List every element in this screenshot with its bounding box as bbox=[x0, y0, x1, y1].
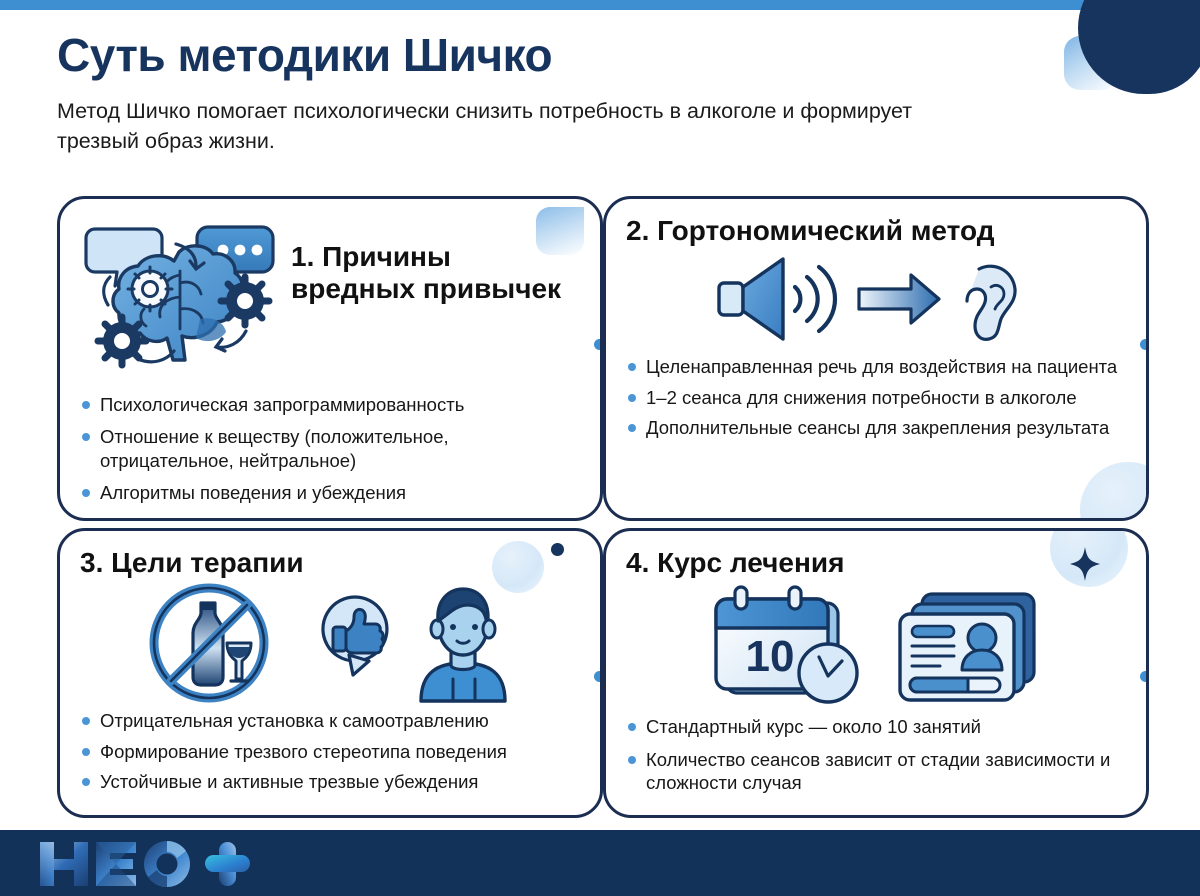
decorative-circle bbox=[1080, 462, 1149, 521]
list-item: Формирование трезвого стереотипа поведен… bbox=[80, 740, 580, 763]
card-title: 4. Курс лечения bbox=[626, 547, 1126, 579]
list-item: Отношение к веществу (положительное, отр… bbox=[80, 425, 580, 472]
list-item: Дополнительные сеансы для закрепления ре… bbox=[626, 416, 1126, 439]
card-causes-of-bad-habits: 1. Причины вредных привычек Психологичес… bbox=[57, 196, 603, 521]
card-title: 1. Причины вредных привычек bbox=[291, 241, 580, 306]
card-edge-dot bbox=[1140, 339, 1149, 350]
calendar-day-number: 10 bbox=[746, 632, 795, 681]
sound-waves-icon bbox=[795, 267, 835, 331]
card-therapy-goals: 3. Цели терапии bbox=[57, 528, 603, 818]
thumbs-up-bubble-icon bbox=[319, 593, 391, 693]
no-alcohol-thumbsup-person-icon bbox=[80, 581, 580, 705]
card-title: 3. Цели терапии bbox=[80, 547, 580, 579]
page-subtitle: Метод Шичко помогает психологически сниз… bbox=[57, 96, 937, 157]
top-accent-bar bbox=[0, 0, 1200, 10]
card-edge-dot bbox=[594, 671, 603, 682]
card-bullet-list: Психологическая запрограммированность От… bbox=[80, 393, 580, 505]
id-cards-icon bbox=[896, 588, 1046, 706]
no-alcohol-icon bbox=[147, 581, 297, 705]
card-edge-dot bbox=[1140, 671, 1149, 682]
card-edge-dot bbox=[594, 339, 603, 350]
gear-icon-brain bbox=[128, 267, 172, 311]
card-bullet-list: Стандартный курс — около 10 занятий Коли… bbox=[626, 715, 1126, 794]
page-footer bbox=[0, 830, 1200, 896]
list-item: Устойчивые и активные трезвые убеждения bbox=[80, 770, 580, 793]
card-title: 2. Гортономический метод bbox=[626, 215, 1126, 247]
page-title: Суть методики Шичко bbox=[57, 30, 1057, 82]
list-item: Количество сеансов зависит от стадии зав… bbox=[626, 748, 1126, 795]
calendar-clock-icon: 10 bbox=[706, 585, 866, 709]
card-treatment-course: 4. Курс лечения 10 bbox=[603, 528, 1149, 818]
list-item: 1–2 сеанса для снижения потребности в ал… bbox=[626, 386, 1126, 409]
ear-icon bbox=[967, 267, 1015, 340]
cards-grid: 1. Причины вредных привычек Психологичес… bbox=[57, 196, 1147, 818]
person-icon bbox=[413, 583, 513, 703]
page-header: Суть методики Шичко Метод Шичко помогает… bbox=[57, 30, 1057, 157]
list-item: Психологическая запрограммированность bbox=[80, 393, 580, 416]
speaker-icon bbox=[719, 259, 783, 339]
gear-icon-right bbox=[221, 277, 269, 325]
calendar-clock-idcards-icon: 10 bbox=[626, 585, 1126, 709]
speaker-arrow-ear-icon bbox=[626, 251, 1126, 347]
list-item: Целенаправленная речь для воздействия на… bbox=[626, 355, 1126, 378]
card-bullet-list: Отрицательная установка к самоотравлению… bbox=[80, 709, 580, 793]
brain-gears-icon bbox=[80, 219, 285, 379]
card-gortonomic-method: 2. Гортономический метод bbox=[603, 196, 1149, 521]
brand-logo bbox=[36, 838, 266, 895]
list-item: Отрицательная установка к самоотравлению bbox=[80, 709, 580, 732]
list-item: Алгоритмы поведения и убеждения bbox=[80, 481, 580, 504]
list-item: Стандартный курс — около 10 занятий bbox=[626, 715, 1126, 738]
arrow-right-icon bbox=[859, 275, 939, 323]
card-bullet-list: Целенаправленная речь для воздействия на… bbox=[626, 355, 1126, 439]
